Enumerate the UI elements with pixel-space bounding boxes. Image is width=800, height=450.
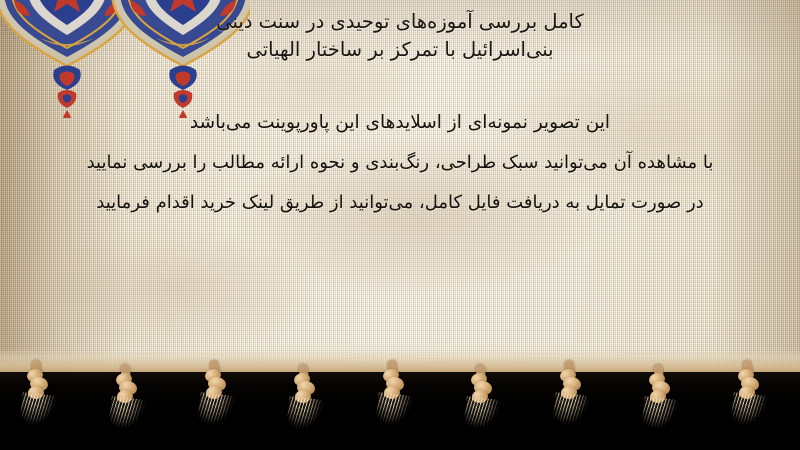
tassel-brush <box>550 392 593 440</box>
body-line-2: با مشاهده آن می‌توانید سبک طراحی، رنگ‌بن… <box>0 152 800 173</box>
body-line-3: در صورت تمایل به دریافت فایل کامل، می‌تو… <box>0 192 800 213</box>
carpet-fringe-tassel <box>545 360 599 446</box>
carpet-fringe-tassel <box>12 360 66 446</box>
carpet-fringe-tassel <box>190 360 244 446</box>
tassel-brush <box>106 396 149 444</box>
carpet-fringe-tassel <box>456 364 510 450</box>
slide-title: کامل بررسی آموزه‌های توحیدی در سنت دینی … <box>0 8 800 63</box>
tassel-brush <box>639 396 682 444</box>
body-line-1: این تصویر نمونه‌ای از اسلایدهای این پاور… <box>0 112 800 133</box>
title-line-2: بنی‌اسرائیل با تمرکز بر ساختار الهیاتی <box>0 36 800 64</box>
tassel-brush <box>728 392 771 440</box>
tassel-brush <box>17 392 60 440</box>
title-line-1: کامل بررسی آموزه‌های توحیدی در سنت دینی <box>0 8 800 36</box>
slide-body: این تصویر نمونه‌ای از اسلایدهای این پاور… <box>0 112 800 232</box>
carpet-fringe <box>0 360 800 450</box>
carpet-fringe-tassel <box>101 364 155 450</box>
tassel-brush <box>195 392 238 440</box>
carpet-fringe-tassel <box>279 364 333 450</box>
carpet-fringe-tassel <box>634 364 688 450</box>
tassel-brush <box>461 396 504 444</box>
carpet-fringe-tassel <box>368 360 422 446</box>
carpet-fringe-tassel <box>723 360 777 446</box>
tassel-brush <box>373 392 416 440</box>
tassel-brush <box>284 396 327 444</box>
slide-canvas: کامل بررسی آموزه‌های توحیدی در سنت دینی … <box>0 0 800 450</box>
